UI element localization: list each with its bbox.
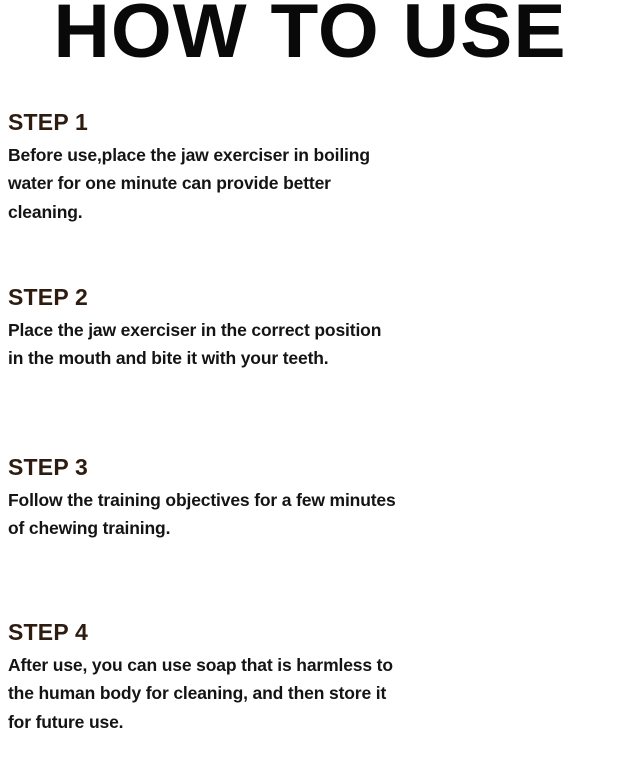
step-2-description: Place the jaw exerciser in the correct p… bbox=[8, 316, 400, 373]
step-3-description: Follow the training objectives for a few… bbox=[8, 486, 400, 543]
step-block-4: STEP 4 After use, you can use soap that … bbox=[8, 620, 400, 736]
step-block-1: STEP 1 Before use,place the jaw exercise… bbox=[8, 110, 400, 226]
step-1-description: Before use,place the jaw exerciser in bo… bbox=[8, 141, 400, 226]
step-block-2: STEP 2 Place the jaw exerciser in the co… bbox=[8, 285, 400, 373]
step-2-label: STEP 2 bbox=[8, 285, 400, 309]
step-3-label: STEP 3 bbox=[8, 455, 400, 479]
step-4-description: After use, you can use soap that is harm… bbox=[8, 651, 400, 736]
step-block-3: STEP 3 Follow the training objectives fo… bbox=[8, 455, 400, 543]
step-4-label: STEP 4 bbox=[8, 620, 400, 644]
illustration-column bbox=[470, 0, 620, 762]
step-1-label: STEP 1 bbox=[8, 110, 400, 134]
